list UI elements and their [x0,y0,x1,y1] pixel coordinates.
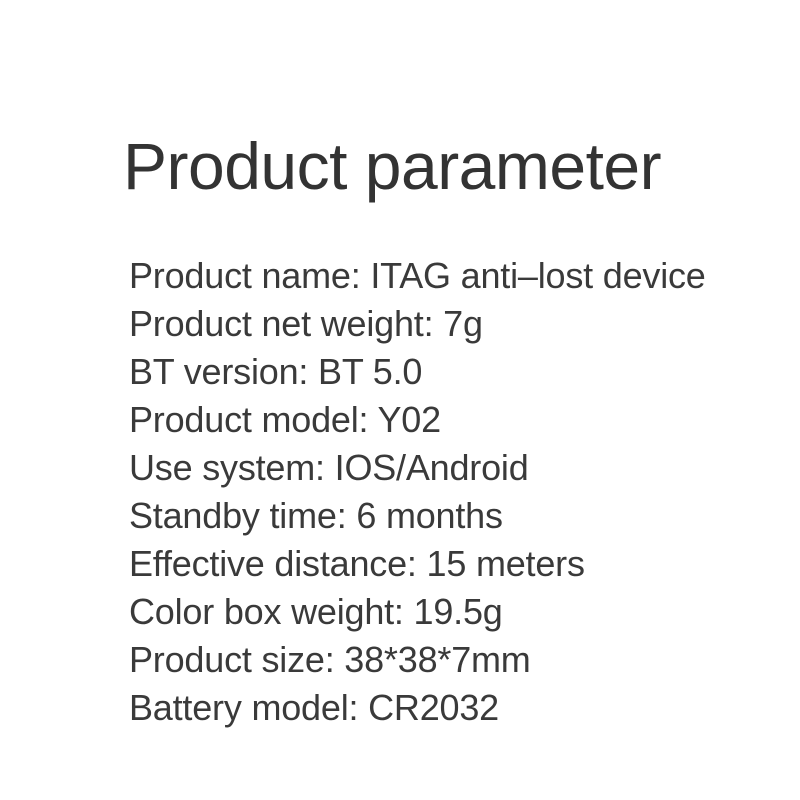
spec-row-product-model: Product model: Y02 [129,396,769,444]
spec-row-color-box-weight: Color box weight: 19.5g [129,588,769,636]
spec-row-product-name: Product name: ITAG anti–lost device [129,252,769,300]
spec-row-standby-time: Standby time: 6 months [129,492,769,540]
spec-row-battery-model: Battery model: CR2032 [129,684,769,732]
spec-row-bt-version: BT version: BT 5.0 [129,348,769,396]
spec-list: Product name: ITAG anti–lost device Prod… [129,252,769,732]
spec-row-use-system: Use system: IOS/Android [129,444,769,492]
spec-sheet: Product name: ITAG anti–lost device Prod… [0,0,800,800]
spec-row-product-net-weight: Product net weight: 7g [129,300,769,348]
spec-row-product-size: Product size: 38*38*7mm [129,636,769,684]
product-parameter-page: Product parameter Product name: ITAG ant… [0,0,800,800]
spec-row-effective-distance: Effective distance: 15 meters [129,540,769,588]
